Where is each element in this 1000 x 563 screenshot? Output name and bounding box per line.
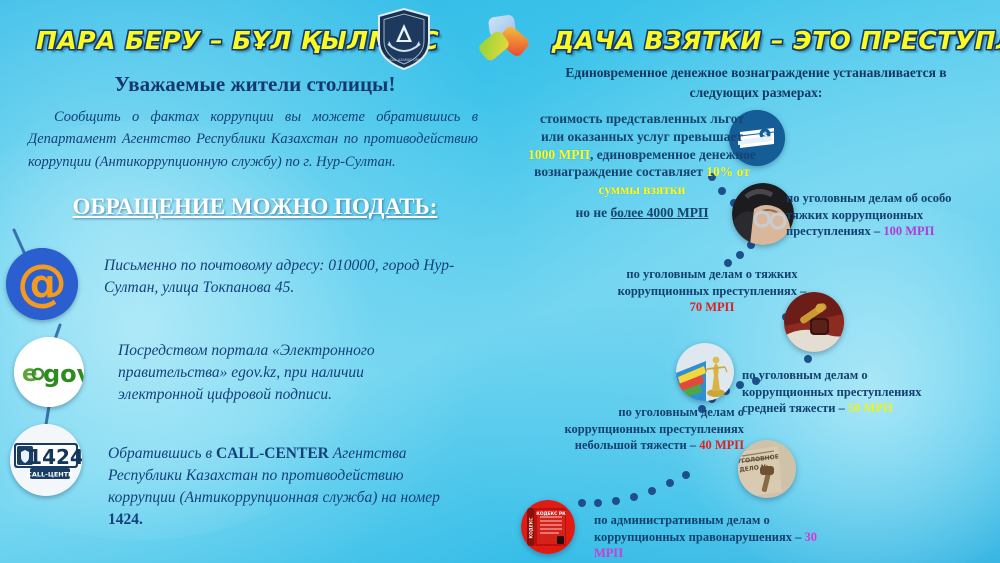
tier-2-value: 70 МРП bbox=[690, 300, 735, 314]
tier-3-text: по уголовным делам о коррупционных прест… bbox=[742, 367, 942, 417]
poster-canvas: ПАРА БЕРУ – БҰЛ ҚЫЛМЫС ДАЧА ВЗЯТКИ – ЭТО… bbox=[0, 0, 1000, 563]
egov-logo-icon[interactable]: e gov bbox=[14, 337, 84, 407]
left-greeting-title: Уважаемые жители столицы! bbox=[40, 72, 470, 97]
header-title-russian: ДАЧА ВЗЯТКИ – ЭТО ПРЕСТУПЛЕНИЕ bbox=[552, 26, 1000, 55]
tier-5-text: по административным делам о коррупционны… bbox=[594, 512, 834, 562]
tier-2-text: по уголовным делам о тяжких коррупционны… bbox=[612, 266, 812, 316]
svg-text:КОДЕКС: КОДЕКС bbox=[529, 517, 535, 538]
svg-text:1424: 1424 bbox=[28, 445, 82, 469]
tier-1-text: по уголовным делам об особо тяжких корру… bbox=[786, 190, 986, 240]
svg-text:e: e bbox=[22, 361, 38, 387]
call-center-label: CALL-CENTER bbox=[216, 445, 329, 462]
colorful-checkmark-logo-icon bbox=[478, 14, 532, 66]
tier-4-text: по уголовным делам о коррупционных прест… bbox=[548, 404, 744, 454]
left-section-title: ОБРАЩЕНИЕ МОЖНО ПОДАТЬ: bbox=[40, 194, 470, 220]
call-center-number: 1424. bbox=[108, 511, 143, 528]
reward-rule-line1: стоимость представленных льгот или оказа… bbox=[540, 111, 744, 144]
handcuffs-photo bbox=[732, 183, 794, 245]
tier-1-value: 100 МРП bbox=[883, 224, 934, 238]
svg-text:gov: gov bbox=[43, 360, 84, 388]
at-sign-icon[interactable]: @ bbox=[6, 248, 78, 320]
reward-rule-line3: но не bbox=[575, 205, 610, 220]
tier-3-label: по уголовным делам о коррупционных прест… bbox=[742, 368, 921, 415]
reward-amount-1000mrp: 1000 МРП bbox=[528, 147, 590, 162]
left-item-2-text: Посредством портала «Электронного правит… bbox=[118, 340, 448, 406]
left-item-3-text: Обратившись в CALL-CENTER Агентства Респ… bbox=[108, 443, 458, 531]
left-intro-paragraph: Сообщить о фактах коррупции вы можете об… bbox=[28, 106, 478, 173]
lady-justice-photo bbox=[676, 343, 734, 401]
svg-text:CALL-ЦЕНТР: CALL-ЦЕНТР bbox=[27, 471, 73, 479]
tier-2-label: по уголовным делам о тяжких коррупционны… bbox=[618, 267, 807, 298]
reward-amount-max-4000mrp: более 4000 МРП bbox=[611, 205, 709, 220]
svg-text:ADAL AZAMAT QRK: ADAL AZAMAT QRK bbox=[388, 58, 421, 62]
codex-book-photo: КОДЕКС РК КОДЕКС bbox=[521, 500, 575, 554]
svg-text:КОДЕКС РК: КОДЕКС РК bbox=[536, 511, 566, 517]
tier-5-label: по административным делам о коррупционны… bbox=[594, 513, 805, 544]
svg-text:@: @ bbox=[17, 254, 67, 312]
tier-3-value: 50 МРП bbox=[848, 401, 893, 415]
left-item-1-text: Письменно по почтовому адресу: 010000, г… bbox=[104, 255, 474, 299]
anticorruption-shield-emblem-icon: ADAL AZAMAT QRK bbox=[376, 8, 432, 70]
criminal-case-folder-photo: УГОЛОВНОЕ ДЕЛО № bbox=[738, 440, 796, 498]
reward-rule-text: стоимость представленных льгот или оказа… bbox=[528, 110, 756, 222]
tier-4-value: 40 МРП bbox=[699, 438, 744, 452]
call-center-1424-icon[interactable]: 1424 CALL-ЦЕНТР bbox=[10, 424, 82, 496]
